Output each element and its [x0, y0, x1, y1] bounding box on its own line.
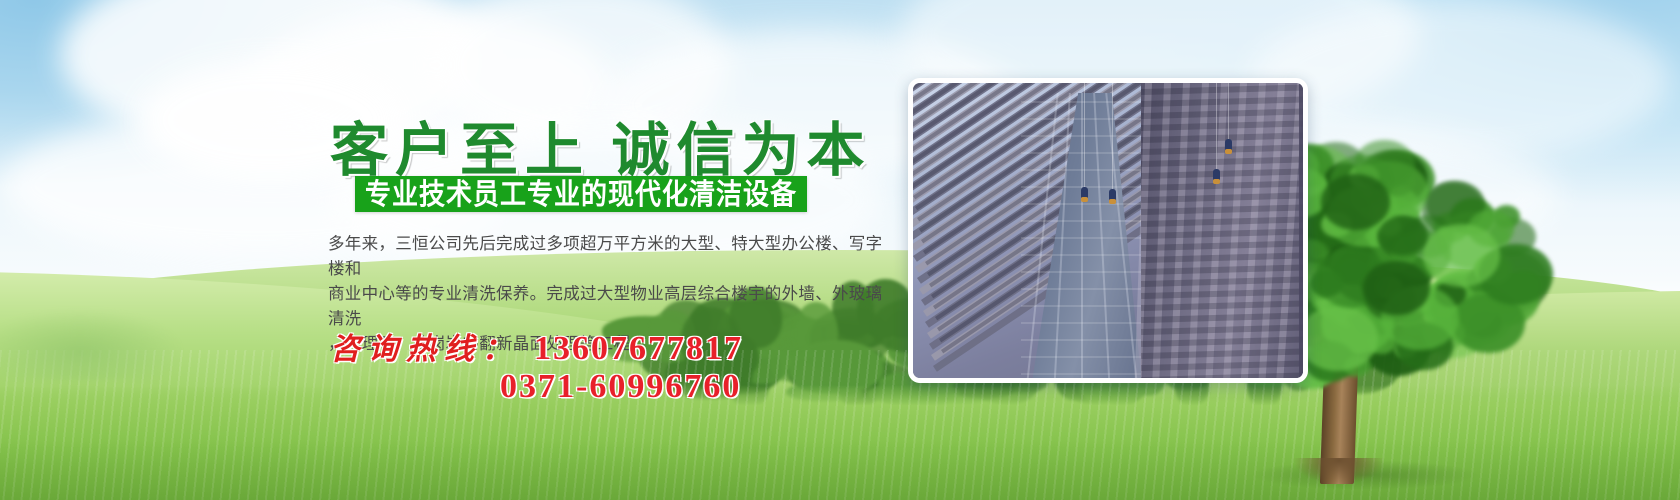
headline: 客户至上 诚信为本 — [330, 103, 872, 187]
hero-banner: 客户至上 诚信为本 专业技术员工专业的现代化清洁设备 多年来，三恒公司先后完成过… — [0, 0, 1680, 500]
phone-secondary[interactable]: 0371-60996760 — [500, 368, 741, 406]
hotline-label: 咨询热线： — [330, 324, 520, 368]
banner-content: 客户至上 诚信为本 专业技术员工专业的现代化清洁设备 多年来，三恒公司先后完成过… — [0, 0, 1680, 500]
hotline-row: 咨询热线： 13607677817 — [330, 324, 743, 368]
subtitle-banner-text: 专业技术员工专业的现代化清洁设备 — [365, 179, 797, 208]
subtitle-banner: 专业技术员工专业的现代化清洁设备 — [355, 176, 807, 212]
description-line: 多年来，三恒公司先后完成过多项超万平方米的大型、特大型办公楼、写字楼和 — [328, 232, 888, 282]
phone-primary[interactable]: 13607677817 — [534, 330, 743, 368]
